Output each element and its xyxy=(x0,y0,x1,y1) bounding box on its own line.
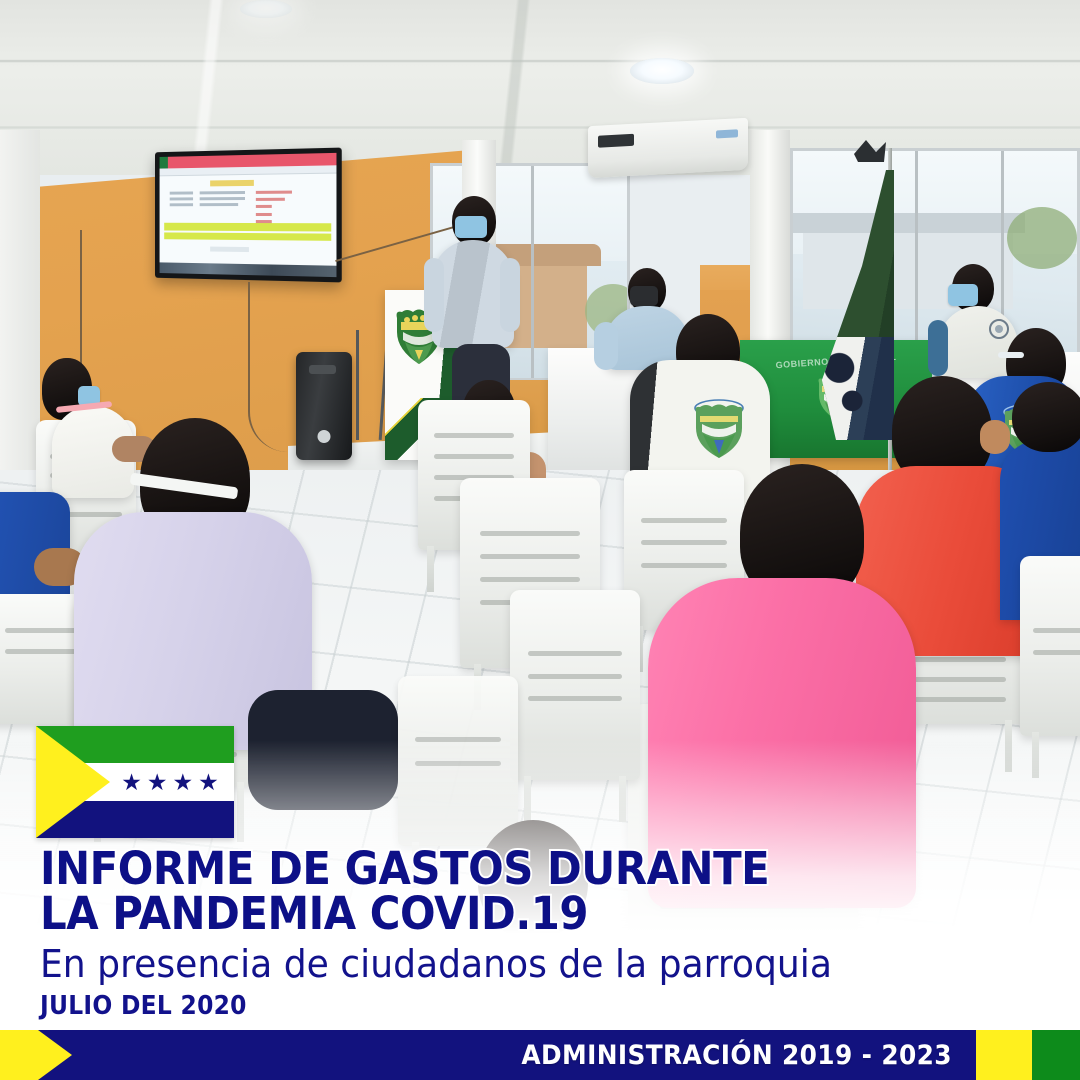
star-icon: ★ xyxy=(171,771,194,794)
spreadsheet-cell xyxy=(256,191,292,194)
spreadsheet-cell xyxy=(256,220,272,223)
air-conditioner xyxy=(588,118,748,178)
footer-block-yellow xyxy=(976,1030,1032,1080)
foliage xyxy=(1007,207,1077,269)
arm xyxy=(424,258,444,332)
star-icon: ★ xyxy=(120,771,143,794)
footer-admin-text: ADMINISTRACIÓN 2019 - 2023 xyxy=(521,1030,952,1080)
flag-stars: ★ ★ ★ ★ xyxy=(114,763,226,801)
spreadsheet-cell xyxy=(170,197,194,200)
arm xyxy=(594,322,618,370)
spreadsheet-highlight-row xyxy=(165,232,331,241)
headline-line-1: INFORME DE GASTOS DURANTE xyxy=(40,846,951,891)
face-mask xyxy=(630,286,658,306)
face-mask xyxy=(455,216,487,238)
spreadsheet-cell xyxy=(256,213,272,216)
star-icon: ★ xyxy=(146,771,169,794)
ceiling-light xyxy=(240,0,292,18)
star-icon: ★ xyxy=(197,771,220,794)
tv-screen xyxy=(160,153,337,277)
arm-sash xyxy=(928,320,948,376)
spreadsheet-cell xyxy=(200,191,245,194)
ceiling-light xyxy=(630,58,694,84)
vest-crest-icon xyxy=(690,392,748,464)
spreadsheet-cell xyxy=(256,205,272,208)
title-block: INFORME DE GASTOS DURANTE LA PANDEMIA CO… xyxy=(40,846,1020,1021)
spreadsheet-cell xyxy=(256,198,285,201)
mask-strap xyxy=(998,352,1024,358)
footer-chevron-icon xyxy=(0,1030,72,1080)
ear xyxy=(980,420,1010,454)
wall-mounted-tv xyxy=(155,148,342,283)
spreadsheet-cell xyxy=(210,247,248,252)
head xyxy=(1012,382,1080,452)
spreadsheet-cell xyxy=(170,191,194,194)
chair xyxy=(1020,556,1080,736)
loudspeaker xyxy=(296,352,352,460)
spreadsheet-cell xyxy=(200,197,245,200)
window-mullion xyxy=(531,166,534,378)
date-label: JULIO DEL 2020 xyxy=(40,991,922,1021)
face-mask xyxy=(948,284,978,306)
spreadsheet-cell xyxy=(170,203,194,206)
roof xyxy=(793,213,1025,233)
arm xyxy=(500,258,520,332)
mic-stand xyxy=(356,330,359,440)
spreadsheet-cell xyxy=(200,203,238,206)
footer-block-green xyxy=(1032,1030,1080,1080)
subtitle: En presencia de ciudadanos de la parroqu… xyxy=(40,941,971,987)
taskbar xyxy=(160,263,337,278)
headline-line-2: LA PANDEMIA COVID.19 xyxy=(40,891,951,936)
footer-bar: ADMINISTRACIÓN 2019 - 2023 xyxy=(0,1030,1080,1080)
parish-flag-badge: ★ ★ ★ ★ xyxy=(36,726,234,838)
spreadsheet-title-cell xyxy=(210,180,254,187)
uniform-patch-icon xyxy=(988,318,1010,340)
poster-canvas: GOBIERNO PARROQUIAL xyxy=(0,0,1080,1080)
spreadsheet-highlight-row xyxy=(165,223,331,231)
